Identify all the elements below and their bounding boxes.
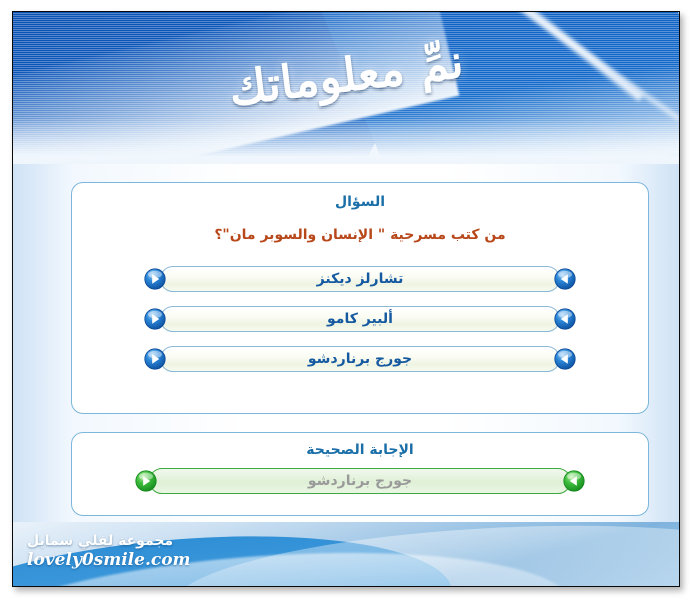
correct-answer-row: جورج برناردشو (135, 467, 585, 495)
option-label: ألبير كامو (144, 305, 576, 333)
play-left-icon[interactable] (554, 308, 576, 330)
question-panel: السؤال من كتب مسرحية " الإنسان والسوبر م… (71, 182, 649, 414)
slide-card: نمِّ معلوماتك lovely0smile.com السؤال من… (12, 11, 680, 587)
answer-panel: الإجابة الصحيحة (71, 432, 649, 516)
screenshot-root: نمِّ معلوماتك lovely0smile.com السؤال من… (0, 0, 692, 602)
play-right-icon[interactable] (144, 308, 166, 330)
options-list: تشارلز ديكنز (72, 265, 648, 373)
question-heading: السؤال (72, 194, 648, 210)
answer-heading: الإجابة الصحيحة (72, 442, 648, 458)
content-area: lovely0smile.com السؤال من كتب مسرحية " … (13, 164, 679, 522)
play-left-icon[interactable] (554, 268, 576, 290)
footer-site-url: lovely0smile.com (27, 550, 191, 570)
play-right-icon[interactable] (144, 268, 166, 290)
option-row[interactable]: جورج برناردشو (144, 345, 576, 373)
option-label: تشارلز ديكنز (144, 265, 576, 293)
footer-banner: مجموعة لفلي سمايل lovely0smile.com (13, 522, 679, 586)
option-row[interactable]: تشارلز ديكنز (144, 265, 576, 293)
option-row[interactable]: ألبير كامو (144, 305, 576, 333)
play-left-icon[interactable] (554, 348, 576, 370)
play-left-icon[interactable] (563, 470, 585, 492)
correct-answer-text: جورج برناردشو (135, 467, 585, 495)
play-right-icon[interactable] (135, 470, 157, 492)
option-label: جورج برناردشو (144, 345, 576, 373)
header-banner: نمِّ معلوماتك (13, 12, 679, 164)
play-right-icon[interactable] (144, 348, 166, 370)
footer-branding: مجموعة لفلي سمايل lovely0smile.com (27, 532, 191, 570)
question-text: من كتب مسرحية " الإنسان والسوبر مان"؟ (72, 227, 648, 243)
banner-bottom-fade (13, 118, 679, 164)
footer-arabic-name: مجموعة لفلي سمايل (27, 532, 191, 550)
